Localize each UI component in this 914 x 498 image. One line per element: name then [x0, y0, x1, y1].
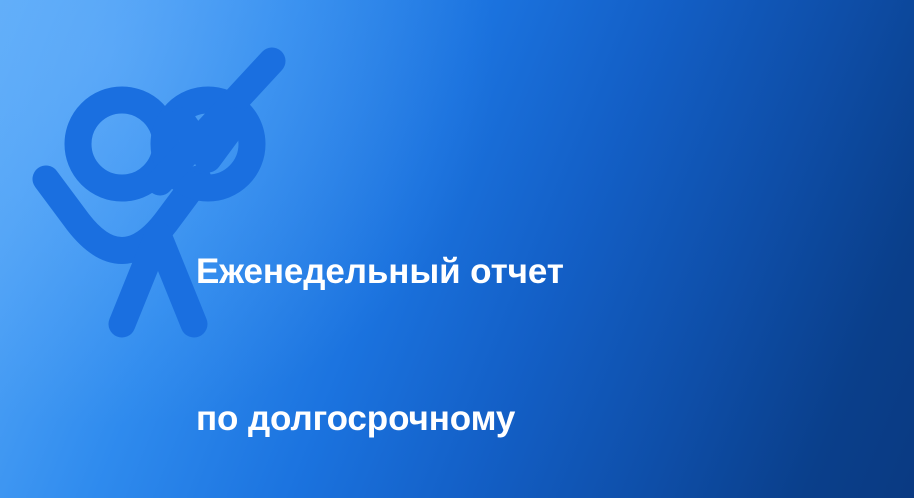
headline-line-2: по долгосрочному [196, 394, 836, 443]
page-title: Еженедельный отчет по долгосрочному набл… [196, 149, 836, 498]
report-banner: Еженедельный отчет по долгосрочному набл… [0, 0, 914, 498]
headline-line-1: Еженедельный отчет [196, 247, 836, 296]
